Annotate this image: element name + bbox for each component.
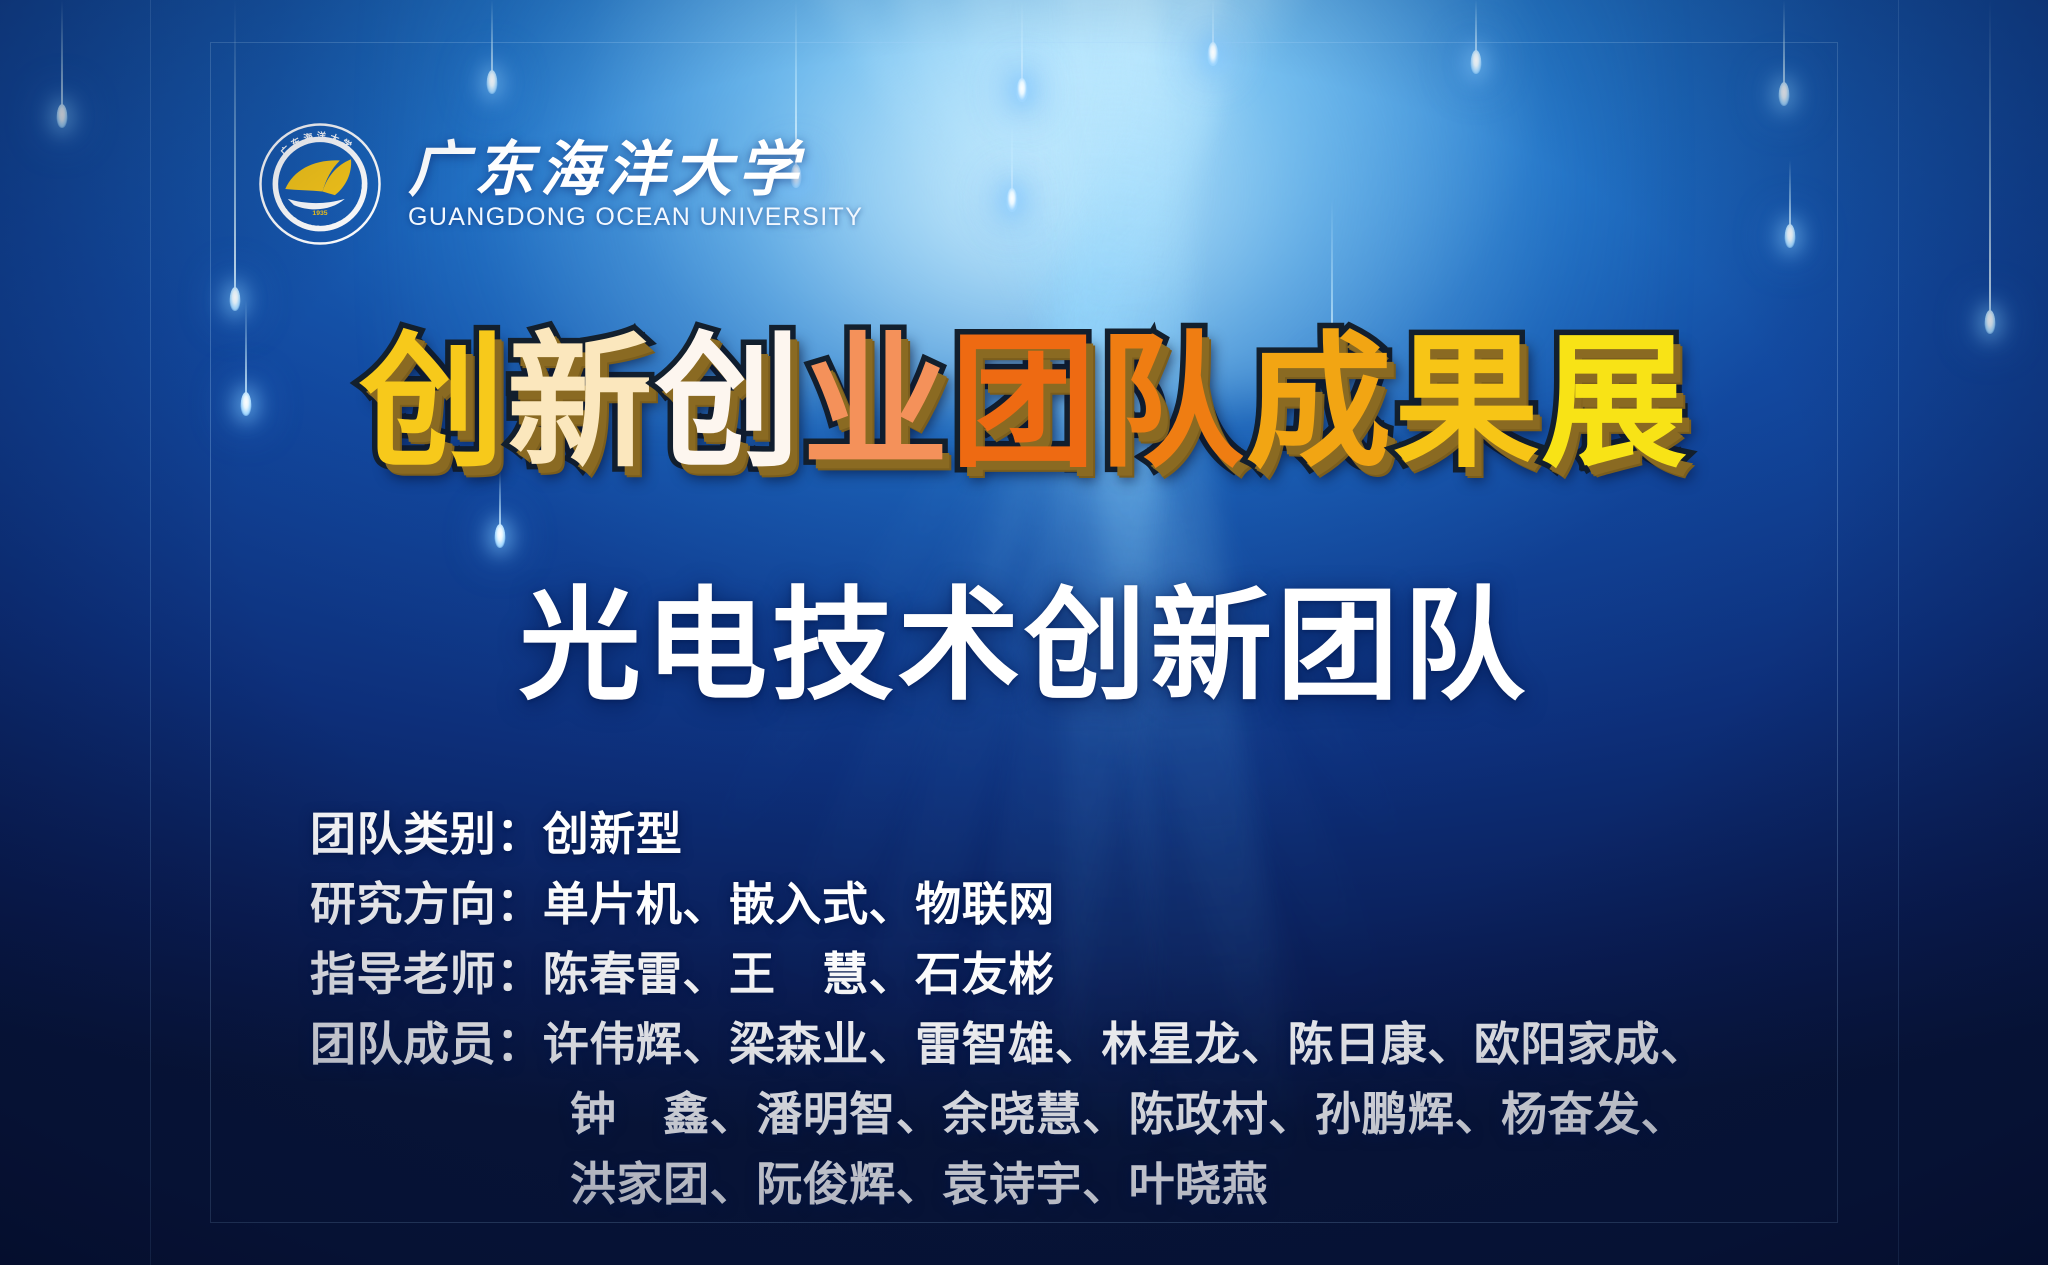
info-row-value: 许伟辉、梁森业、雷智雄、林星龙、陈日康、欧阳家成、 xyxy=(543,1010,1868,1080)
svg-text:广东海洋大学: 广东海洋大学 xyxy=(278,130,356,158)
info-member-continuation-row: 洪家团、阮俊辉、袁诗宇、叶晓燕 xyxy=(310,1150,1868,1220)
info-row: 研究方向：单片机、嵌入式、物联网 xyxy=(310,870,1868,940)
info-row-value: 陈春雷、王 慧、石友彬 xyxy=(543,940,1868,1010)
info-row: 团队成员：许伟辉、梁森业、雷智雄、林星龙、陈日康、欧阳家成、 xyxy=(310,1010,1868,1080)
main-title-char-6: 成 xyxy=(1246,330,1394,476)
main-title-char-4: 团 xyxy=(950,330,1098,476)
main-title: 创新创业团队成果展 xyxy=(0,330,2048,476)
university-header: 广东海洋大学 GUANGDONG OCEAN UNIVERSITY 1935 广… xyxy=(258,122,863,246)
main-title-char-8: 展 xyxy=(1541,330,1689,476)
university-name-cn: 广东海洋大学 xyxy=(408,140,863,201)
info-row-label: 团队类别： xyxy=(310,800,543,870)
team-info-block: 团队类别：创新型研究方向：单片机、嵌入式、物联网指导老师：陈春雷、王 慧、石友彬… xyxy=(310,800,1868,1219)
university-name-en: GUANGDONG OCEAN UNIVERSITY xyxy=(408,203,863,232)
svg-text:1935: 1935 xyxy=(312,210,327,217)
info-member-continuation-row: 钟 鑫、潘明智、余晓慧、陈政村、孙鹏辉、杨奋发、 xyxy=(310,1080,1868,1150)
main-title-char-3: 业 xyxy=(802,330,950,476)
info-row-value: 创新型 xyxy=(543,800,1868,870)
info-row-label: 研究方向： xyxy=(310,870,543,940)
info-row: 团队类别：创新型 xyxy=(310,800,1868,870)
info-row: 指导老师：陈春雷、王 慧、石友彬 xyxy=(310,940,1868,1010)
info-row-value: 单片机、嵌入式、物联网 xyxy=(543,870,1868,940)
info-row-label: 指导老师： xyxy=(310,940,543,1010)
main-title-char-7: 果 xyxy=(1393,330,1541,476)
info-row-label: 团队成员： xyxy=(310,1010,543,1080)
main-title-char-1: 新 xyxy=(507,330,655,476)
team-name-subtitle: 光电技术创新团队 xyxy=(0,585,2048,707)
guangdong-ocean-university-seal-icon: 广东海洋大学 GUANGDONG OCEAN UNIVERSITY 1935 xyxy=(258,122,382,246)
main-title-char-0: 创 xyxy=(359,330,507,476)
main-title-char-5: 队 xyxy=(1098,330,1246,476)
poster-canvas: 广东海洋大学 GUANGDONG OCEAN UNIVERSITY 1935 广… xyxy=(0,0,2048,1265)
main-title-char-2: 创 xyxy=(655,330,803,476)
